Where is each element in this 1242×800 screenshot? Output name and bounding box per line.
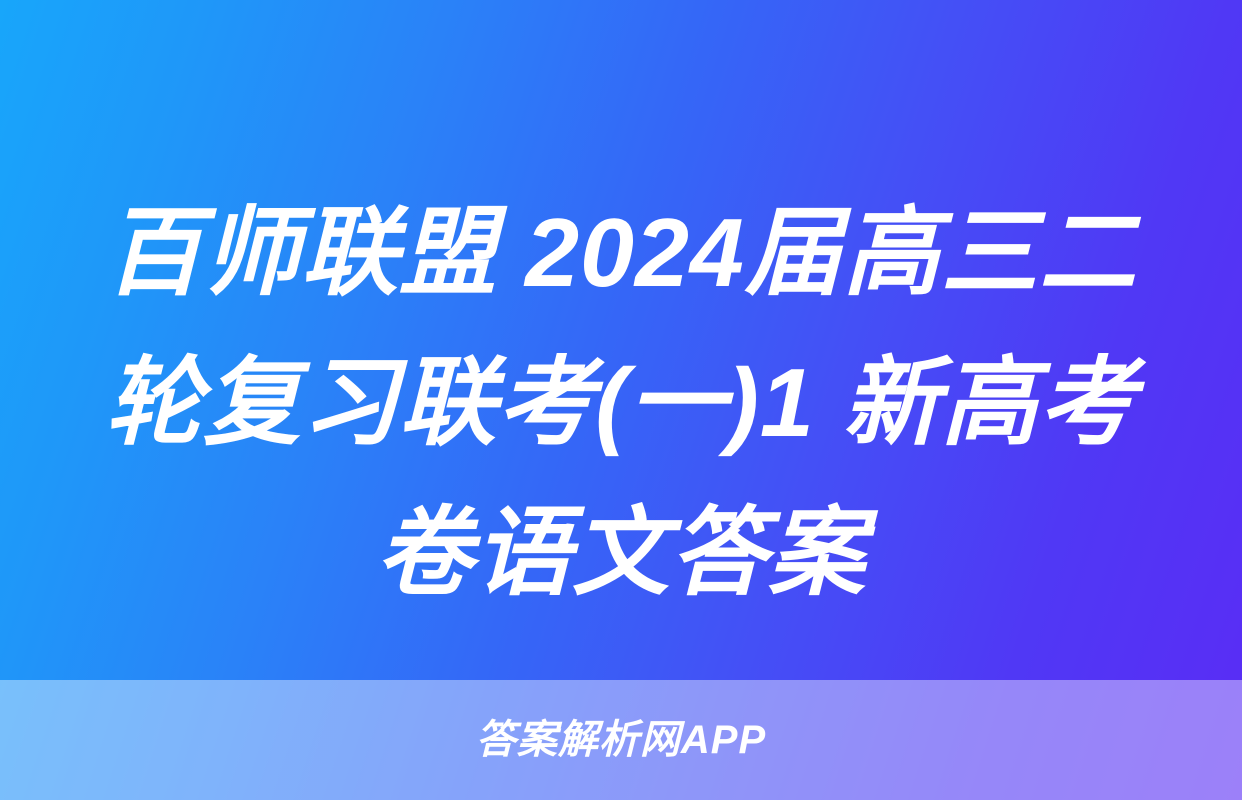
poster-card: 百师联盟 2024届高三二 轮复习联考(一)1 新高考 卷语文答案 答案解析网A… [0, 0, 1242, 800]
page-title: 百师联盟 2024届高三二 轮复习联考(一)1 新高考 卷语文答案 [0, 178, 1242, 628]
page-title-line-1: 百师联盟 2024届高三二 [72, 178, 1170, 328]
watermark-text: 答案解析网APP [476, 720, 766, 760]
page-title-line-2: 轮复习联考(一)1 新高考 [72, 328, 1170, 478]
page-title-line-3: 卷语文答案 [72, 478, 1170, 628]
watermark-band: 答案解析网APP [0, 680, 1242, 800]
